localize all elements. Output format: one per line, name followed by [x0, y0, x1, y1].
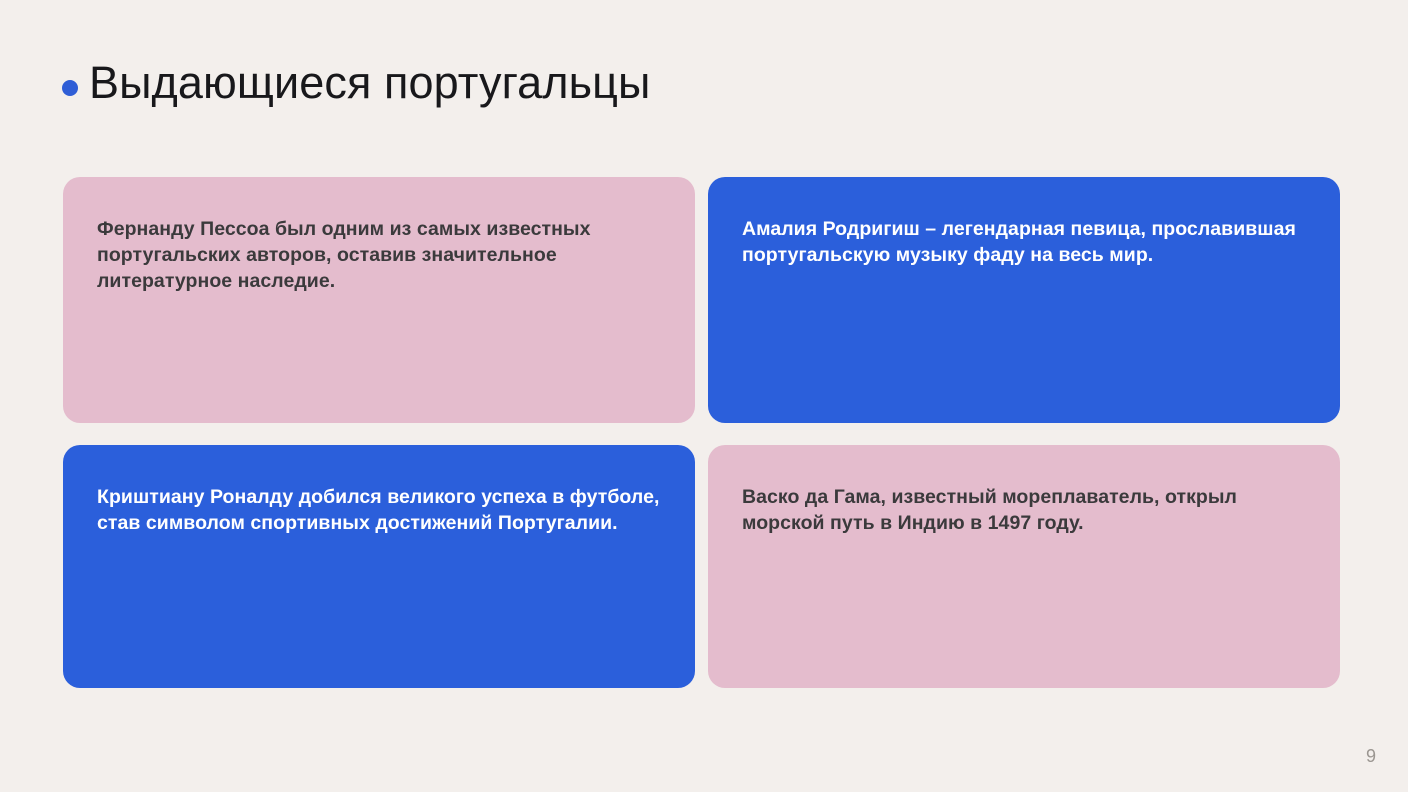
card-cristiano-ronaldo[interactable]: Криштиану Роналду добился великого успех… [63, 445, 695, 688]
card-text: Амалия Родригиш – легендарная певица, пр… [742, 216, 1306, 268]
bullet-dot-icon [62, 80, 78, 96]
card-text: Криштиану Роналду добился великого успех… [97, 484, 661, 536]
card-amalia-rodrigues[interactable]: Амалия Родригиш – легендарная певица, пр… [708, 177, 1340, 423]
page-number: 9 [1366, 745, 1376, 767]
card-text: Васко да Гама, известный мореплаватель, … [742, 484, 1306, 536]
content-card-grid: Фернанду Пессоа был одним из самых извес… [63, 177, 1340, 688]
card-vasco-da-gama[interactable]: Васко да Гама, известный мореплаватель, … [708, 445, 1340, 688]
page-title: Выдающиеся португальцы [89, 55, 650, 111]
card-fernando-pessoa[interactable]: Фернанду Пессоа был одним из самых извес… [63, 177, 695, 423]
card-text: Фернанду Пессоа был одним из самых извес… [97, 216, 661, 294]
slide-canvas: Выдающиеся португальцы Фернанду Пессоа б… [0, 0, 1408, 792]
slide-title-row: Выдающиеся португальцы [62, 52, 650, 114]
